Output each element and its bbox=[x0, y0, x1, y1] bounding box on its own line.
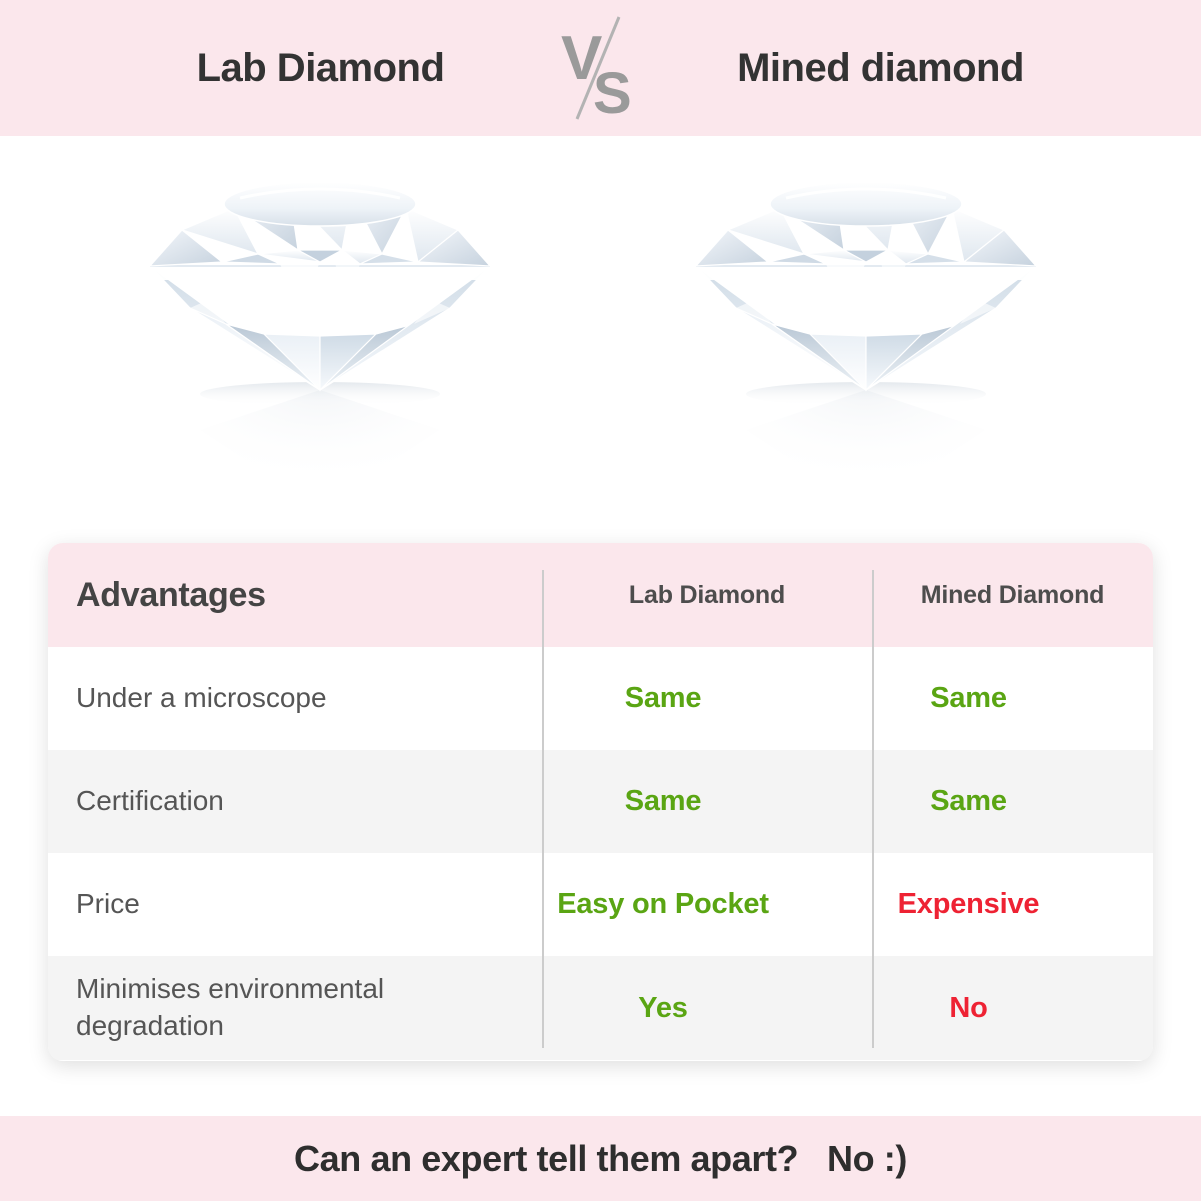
row-value-lab: Yes bbox=[498, 992, 828, 1025]
svg-text:S: S bbox=[593, 61, 632, 123]
row-value-mined: No bbox=[828, 992, 1109, 1025]
table-header-row: Advantages Lab Diamond Mined Diamond bbox=[48, 543, 1153, 647]
versus-icon: V S bbox=[553, 13, 649, 123]
footer-band: Can an expert tell them apart? No :) bbox=[0, 1116, 1201, 1201]
table-row: Under a microscope Same Same bbox=[48, 647, 1153, 750]
header-band: Lab Diamond V S Mined diamond bbox=[0, 0, 1201, 136]
row-value-lab: Same bbox=[498, 785, 828, 818]
row-label: Price bbox=[48, 886, 498, 923]
row-label: Minimises environmental degradation bbox=[48, 971, 498, 1045]
comparison-table-card: Advantages Lab Diamond Mined Diamond Und… bbox=[48, 543, 1153, 1061]
page-title-mined: Mined diamond bbox=[671, 46, 1091, 91]
mined-diamond-image bbox=[676, 158, 1056, 518]
row-value-lab: Easy on Pocket bbox=[498, 888, 828, 921]
column-divider-left bbox=[542, 570, 544, 1048]
table-row: Certification Same Same bbox=[48, 750, 1153, 853]
table-row: Price Easy on Pocket Expensive bbox=[48, 853, 1153, 956]
page-title-lab: Lab Diamond bbox=[111, 46, 531, 91]
table-row: Minimises environmental degradation Yes … bbox=[48, 956, 1153, 1060]
column-header-mined-diamond: Mined Diamond bbox=[872, 581, 1153, 610]
row-value-lab: Same bbox=[498, 682, 828, 715]
row-value-mined: Expensive bbox=[828, 888, 1109, 921]
column-header-lab-diamond: Lab Diamond bbox=[542, 581, 872, 610]
row-value-mined: Same bbox=[828, 785, 1109, 818]
row-label: Certification bbox=[48, 783, 498, 820]
footer-question: Can an expert tell them apart? No :) bbox=[294, 1138, 907, 1180]
diamond-illustration-area bbox=[0, 136, 1201, 528]
comparison-table: Advantages Lab Diamond Mined Diamond Und… bbox=[48, 543, 1153, 1061]
lab-diamond-image bbox=[130, 158, 510, 518]
row-label: Under a microscope bbox=[48, 680, 498, 717]
column-header-advantages: Advantages bbox=[48, 576, 542, 615]
row-value-mined: Same bbox=[828, 682, 1109, 715]
column-divider-right bbox=[872, 570, 874, 1048]
